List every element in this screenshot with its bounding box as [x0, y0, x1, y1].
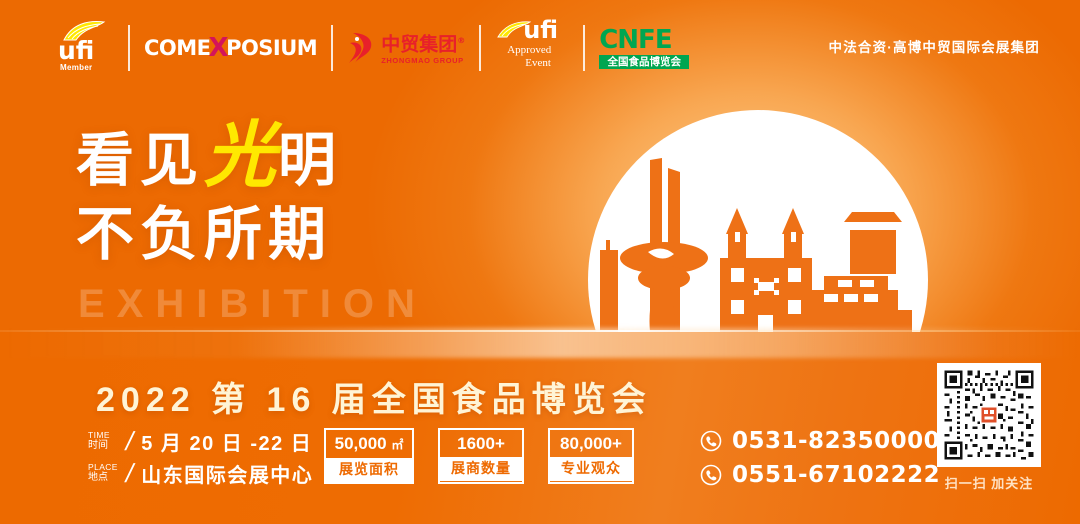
stat-number-area: 50,000 ㎡: [326, 430, 412, 458]
headline-subtitle-en: EXHIBITION: [78, 282, 427, 327]
logo-zhongmao-group: 中贸集团® ZHONGMAO GROUP: [347, 31, 465, 65]
zhongmao-en: ZHONGMAO GROUP: [381, 56, 465, 65]
phone-number-2: 0551-67102222: [732, 462, 940, 488]
horizon-line: [0, 330, 1080, 332]
stat-box-exhibitors: 1600+ 展商数量: [438, 428, 524, 484]
info-tag-place-cn: 地点: [88, 472, 122, 484]
info-row-place: PLACE 地点 / 山东国际会展中心: [88, 457, 313, 489]
qr-cta-label: 扫一扫 加关注: [937, 473, 1041, 492]
logo-group: ufi Member COMEXPOSIUM 中贸集团® ZHONGMAO GR…: [52, 20, 689, 76]
headline: 看见光明 不负所期: [76, 118, 496, 272]
qr-block[interactable]: 扫一扫 加关注: [937, 363, 1041, 492]
corporate-line: 中法合资·高博中贸国际会展集团: [829, 36, 1041, 56]
event-info: TIME 时间 / 5 月 20 日 -22 日 PLACE 地点 / 山东国际…: [88, 425, 313, 489]
qr-code-icon: [942, 368, 1036, 462]
logo-divider-4: [583, 25, 585, 71]
ufi-member-label: Member: [60, 63, 114, 72]
info-slash-icon: /: [123, 458, 137, 489]
cnfe-cn-label: 全国食品博览会: [599, 55, 689, 69]
info-tag-place-en: PLACE: [88, 462, 122, 472]
info-tag-time-en: TIME: [88, 430, 122, 440]
logo-cnfe: CNFE 全国食品博览会: [599, 27, 689, 69]
stat-boxes: 50,000 ㎡ 展览面积 1600+ 展商数量 80,000+ 专业观众: [324, 428, 634, 484]
logo-ufi-approved-event: ufi Approved Event: [495, 20, 569, 76]
qr-canvas[interactable]: [937, 363, 1041, 467]
info-tag-time: TIME 时间: [88, 430, 122, 452]
zhongmao-text: 中贸集团® ZHONGMAO GROUP: [381, 31, 465, 64]
headline-line-2: 不负所期: [76, 198, 496, 272]
info-tag-place: PLACE 地点: [88, 462, 122, 484]
logo-bar: ufi Member COMEXPOSIUM 中贸集团® ZHONGMAO GR…: [0, 0, 1080, 96]
zhongmao-cn: 中贸集团®: [381, 31, 465, 54]
skyline-scene: [588, 110, 928, 332]
stat-label-visitors: 专业观众: [550, 457, 632, 481]
info-value-time: 5 月 20 日 -22 日: [141, 427, 312, 456]
contact-phones: 0531-82350000 0551-67102222: [700, 424, 940, 492]
event-poster: ufi Member COMEXPOSIUM 中贸集团® ZHONGMAO GR…: [0, 0, 1080, 524]
info-value-place: 山东国际会展中心: [141, 459, 313, 488]
phone-row-2[interactable]: 0551-67102222: [700, 458, 940, 492]
headline-seg-b: 明: [278, 128, 342, 193]
comexposium-post: POSIUM: [226, 36, 317, 60]
headline-seg-a: 看见: [76, 128, 204, 193]
logo-divider-1: [128, 25, 130, 71]
page-title: 2022 第 16 届全国食品博览会: [96, 372, 652, 421]
ufi-approved-label: Approved: [507, 44, 551, 56]
phone-icon: [700, 464, 722, 486]
stat-label-area: 展览面积: [326, 458, 412, 482]
ufi-wordmark: ufi: [58, 38, 112, 63]
stat-number-visitors: 80,000+: [550, 430, 632, 457]
skyline-silhouette-icon: [588, 110, 928, 332]
ufi-wordmark: ufi: [523, 17, 558, 43]
info-row-time: TIME 时间 / 5 月 20 日 -22 日: [88, 425, 313, 457]
logo-comexposium: COMEXPOSIUM: [144, 33, 317, 63]
info-slash-icon: /: [123, 426, 137, 457]
info-tag-time-cn: 时间: [88, 440, 122, 452]
logo-divider-2: [331, 25, 333, 71]
stat-box-area: 50,000 ㎡ 展览面积: [324, 428, 414, 484]
phone-icon: [700, 430, 722, 452]
cnfe-wordmark: CNFE: [599, 27, 689, 53]
stat-box-visitors: 80,000+ 专业观众: [548, 428, 634, 484]
stat-label-exhibitors: 展商数量: [440, 457, 522, 481]
zhongmao-dragon-icon: [347, 31, 377, 65]
horizon-glow: [0, 328, 1080, 358]
phone-row-1[interactable]: 0531-82350000: [700, 424, 940, 458]
headline-line-1: 看见光明: [76, 118, 496, 198]
logo-ufi-member: ufi Member: [52, 20, 114, 76]
logo-divider-3: [479, 25, 481, 71]
phone-number-1: 0531-82350000: [732, 428, 940, 454]
comexposium-pre: COME: [144, 36, 211, 60]
headline-glow-char: 光: [204, 112, 278, 197]
stat-number-exhibitors: 1600+: [440, 430, 522, 457]
ufi-event-label: Event: [525, 57, 551, 69]
